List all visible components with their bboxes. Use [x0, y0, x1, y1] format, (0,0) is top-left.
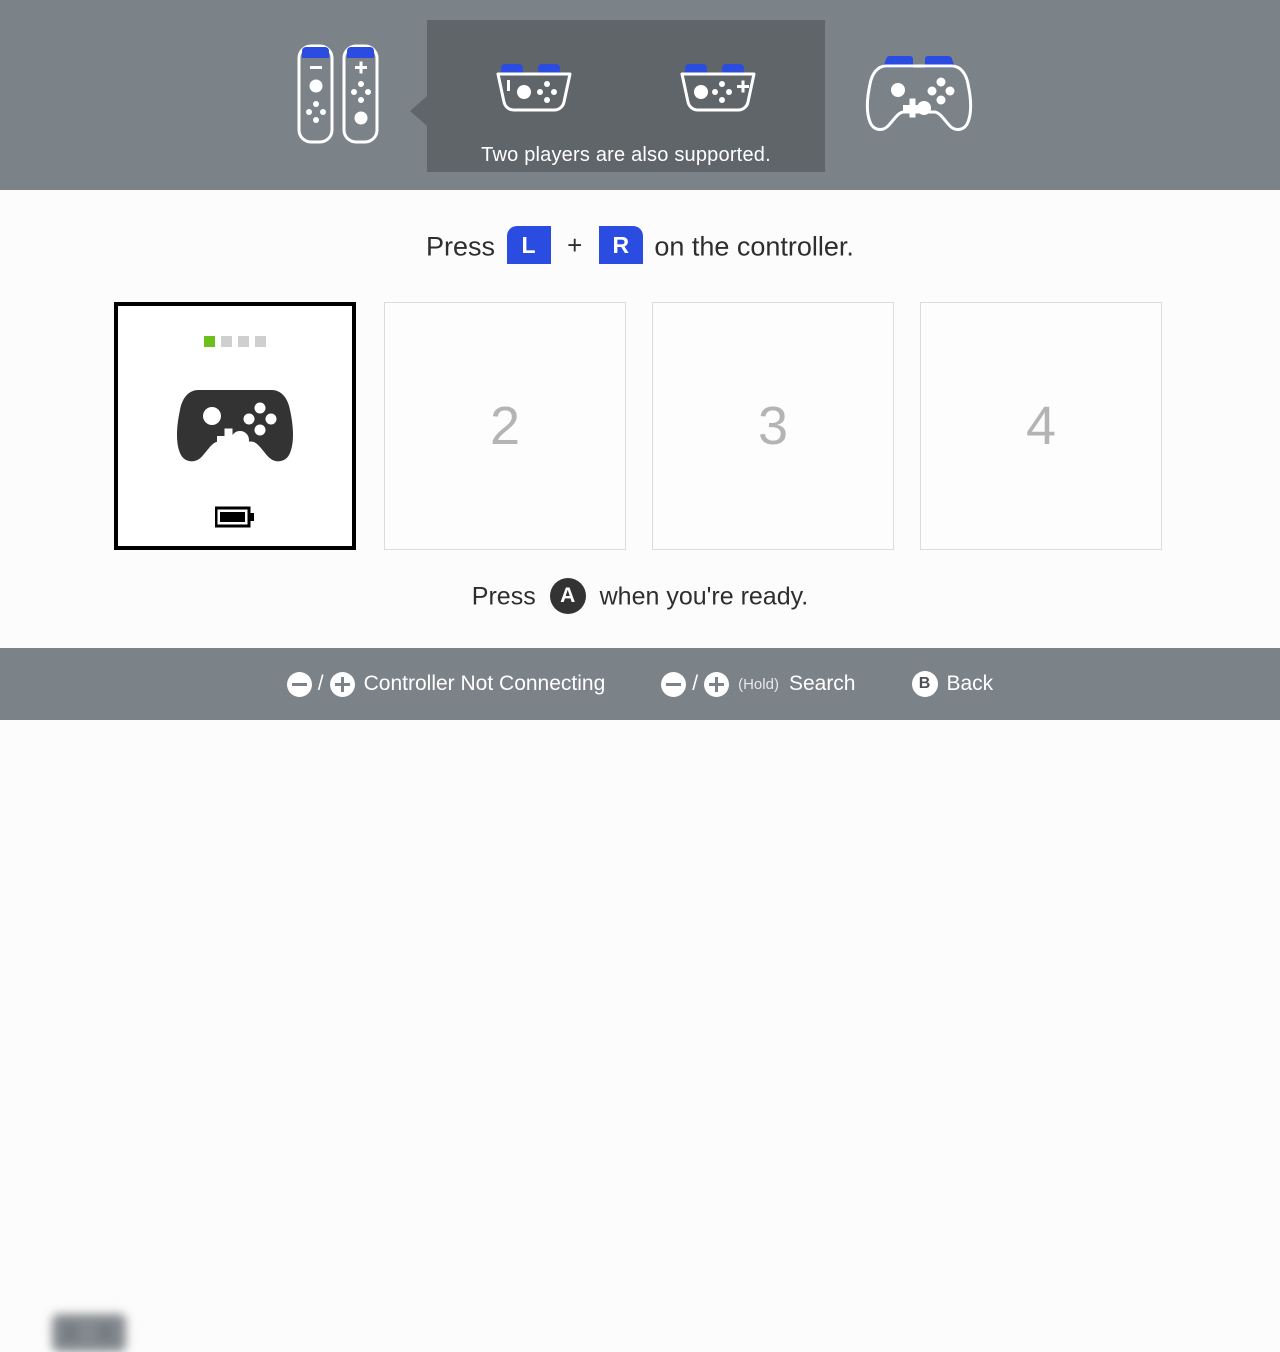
hint-controller-not-connecting[interactable]: / Controller Not Connecting — [287, 672, 605, 697]
hint-separator: / — [318, 672, 324, 696]
tooltip-bubble: Two players are also supported. — [427, 20, 825, 172]
hint-row: / Controller Not Connecting / (Hold) Sea… — [0, 648, 1280, 720]
hint-search[interactable]: / (Hold) Search — [661, 672, 855, 697]
player-led-4 — [255, 336, 266, 347]
hint-hold-label: (Hold) — [738, 676, 779, 693]
joycon-right-horizontal-icon — [674, 54, 762, 120]
hint-label: Back — [947, 672, 994, 696]
hint-keys: / — [287, 672, 355, 697]
player-led-2 — [221, 336, 232, 347]
ready-prefix: Press — [472, 583, 536, 611]
tooltip-icon-row — [427, 54, 825, 120]
minus-button-icon — [287, 672, 312, 697]
plus-button-icon — [704, 672, 729, 697]
ready-suffix: when you're ready. — [600, 583, 809, 611]
dimmed-controller-icon — [52, 1314, 126, 1352]
player-slot-1[interactable] — [114, 302, 356, 550]
b-button-icon: B — [912, 671, 938, 697]
instruction-suffix: on the controller. — [654, 232, 854, 262]
hint-back[interactable]: B Back — [912, 671, 994, 697]
l-button-badge: L — [507, 226, 551, 264]
hint-keys: / — [661, 672, 729, 697]
player-slot-4[interactable]: 4 — [920, 302, 1162, 550]
pro-controller-outline-icon — [862, 44, 976, 142]
player-slot-3[interactable]: 3 — [652, 302, 894, 550]
a-button-icon: A — [550, 578, 586, 614]
joycon-pair-vertical-icon — [296, 42, 380, 146]
ready-line: Press A when you're ready. — [0, 580, 1280, 616]
player-slot-2[interactable]: 2 — [384, 302, 626, 550]
player-slot-number: 4 — [1026, 399, 1056, 453]
bottom-hint-bar: / Controller Not Connecting / (Hold) Sea… — [0, 648, 1280, 720]
player-led-3 — [238, 336, 249, 347]
instruction-joiner: + — [567, 230, 582, 261]
player-led-indicator — [118, 336, 352, 347]
instruction-line: Press L + R on the controller. — [0, 228, 1280, 266]
plus-button-icon — [330, 672, 355, 697]
controller-pairing-screen: Two players are also supported. — [0, 0, 1280, 720]
hint-separator: / — [692, 672, 698, 696]
header-panel: Two players are also supported. — [0, 0, 1280, 190]
pro-controller-filled-icon — [172, 388, 298, 480]
player-slot-row: 2 3 4 — [114, 302, 1166, 554]
instruction-prefix: Press — [426, 232, 495, 262]
hint-label: Search — [789, 672, 856, 696]
joycon-left-horizontal-icon — [490, 54, 578, 120]
battery-full-icon — [215, 506, 255, 528]
hint-label: Controller Not Connecting — [364, 672, 606, 696]
player-led-1 — [204, 336, 215, 347]
player-slot-number: 2 — [490, 399, 520, 453]
r-button-badge: R — [599, 226, 643, 264]
tooltip-arrow — [410, 96, 427, 126]
player-slot-number: 3 — [758, 399, 788, 453]
tooltip-text: Two players are also supported. — [427, 144, 825, 167]
minus-button-icon — [661, 672, 686, 697]
